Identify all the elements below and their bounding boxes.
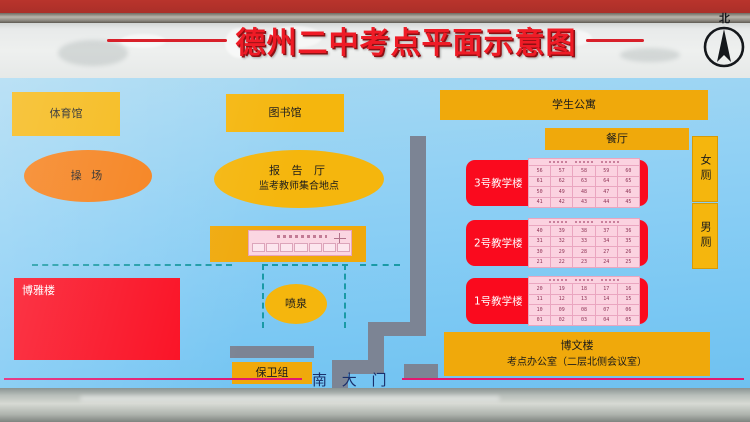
room-cell: 19	[551, 284, 573, 294]
room-cell: 37	[596, 226, 618, 236]
room-cell: 22	[551, 258, 573, 268]
compass-rose: 北	[701, 12, 747, 70]
campus-map-panel: 体育馆 操 场 博雅楼 图书馆 报 告 厅 监考教师集合地点 喷泉 保卫组	[0, 78, 750, 388]
room-cell: 35	[618, 237, 639, 247]
teaching-1-label: 1号教学楼	[474, 294, 523, 309]
room-row: 10 09 08 07 06	[529, 304, 639, 315]
room-cell: 47	[596, 187, 618, 197]
room-cell: 39	[551, 226, 573, 236]
room-cell: 65	[618, 177, 639, 187]
room-cell: 09	[551, 305, 573, 315]
area-playground[interactable]: 操 场	[24, 150, 152, 202]
room-cell: 63	[573, 177, 595, 187]
teaching-3-room-grid: 56 57 58 59 60 61 62 63 64 65 50 49 48	[528, 158, 640, 208]
room-cell: 62	[551, 177, 573, 187]
lecture-hall-name: 报 告 厅	[269, 164, 329, 178]
gate-rule-left	[4, 378, 302, 380]
room-cell: 58	[573, 166, 595, 176]
building-gymnasium[interactable]: 体育馆	[12, 92, 120, 136]
room-cell: 42	[551, 198, 573, 208]
room-cell: 49	[551, 187, 573, 197]
room-cell: 29	[551, 247, 573, 257]
title-bar: 德州二中考点平面示意图	[0, 17, 750, 63]
building-teaching-2[interactable]: 2号教学楼 40 39 38 37 36 31 32 33 34 35	[466, 220, 648, 266]
chart-cell	[309, 243, 322, 252]
room-cell: 07	[596, 305, 618, 315]
building-canteen[interactable]: 餐厅	[545, 128, 689, 150]
room-cell: 56	[529, 166, 551, 176]
signboard-photo: 德州二中考点平面示意图 北 体育馆 操 场 博雅楼 图书馆 报 告 厅 监考	[0, 0, 750, 422]
room-cell: 13	[573, 295, 595, 305]
room-cell: 43	[573, 198, 595, 208]
title-rule-right	[586, 39, 644, 42]
restroom-block: 女厕 男厕	[692, 136, 718, 270]
room-row: 20 19 18 17 16	[529, 283, 639, 294]
room-cell: 24	[596, 258, 618, 268]
room-row: 61 62 63 64 65	[529, 176, 639, 187]
room-row: 56 57 58 59 60	[529, 165, 639, 176]
chart-cell	[252, 243, 265, 252]
teaching-1-room-grid: 20 19 18 17 16 11 12 13 14 15 10 09 08	[528, 276, 640, 326]
room-cell: 16	[618, 284, 639, 294]
room-cell: 50	[529, 187, 551, 197]
room-cell: 57	[551, 166, 573, 176]
building-student-dormitory[interactable]: 学生公寓	[440, 90, 708, 120]
room-cell: 46	[618, 187, 639, 197]
room-cell: 01	[529, 316, 551, 326]
room-cell: 14	[596, 295, 618, 305]
south-gate-row: 南 大 门	[0, 370, 750, 388]
room-cell: 21	[529, 258, 551, 268]
chart-cell	[323, 243, 336, 252]
teaching-2-room-grid: 40 39 38 37 36 31 32 33 34 35 30 29 28	[528, 218, 640, 268]
chart-cell	[266, 243, 279, 252]
room-cell: 30	[529, 247, 551, 257]
center-plaza-chart	[248, 230, 352, 256]
room-cell: 38	[573, 226, 595, 236]
building-boya[interactable]: 博雅楼	[14, 278, 180, 360]
room-cell: 04	[596, 316, 618, 326]
bottom-frame-glint	[80, 396, 500, 401]
restroom-male-label: 男厕	[697, 221, 713, 251]
room-cell: 28	[573, 247, 595, 257]
area-fountain[interactable]: 喷泉	[265, 284, 327, 324]
title-rule-left	[107, 39, 227, 42]
room-cell: 23	[573, 258, 595, 268]
room-cell: 08	[573, 305, 595, 315]
gate-rule-right	[402, 378, 744, 380]
room-cell: 33	[573, 237, 595, 247]
room-cell: 11	[529, 295, 551, 305]
restroom-female[interactable]: 女厕	[692, 136, 718, 202]
room-cell: 17	[596, 284, 618, 294]
lecture-hall-note: 监考教师集合地点	[259, 181, 339, 194]
path-segment-vertical	[410, 136, 426, 336]
room-cell: 20	[529, 284, 551, 294]
room-row: 30 29 28 27 26	[529, 246, 639, 257]
teaching-2-label: 2号教学楼	[474, 236, 523, 251]
restroom-female-label: 女厕	[697, 154, 713, 184]
dashed-line-top-center	[262, 264, 348, 266]
room-cell: 59	[596, 166, 618, 176]
room-cell: 48	[573, 187, 595, 197]
room-cell: 45	[618, 198, 639, 208]
dashed-line-top-right	[360, 264, 400, 266]
page-title: 德州二中考点平面示意图	[236, 18, 577, 62]
south-gate-label: 南 大 门	[302, 369, 402, 389]
room-cell: 40	[529, 226, 551, 236]
room-cell: 32	[551, 237, 573, 247]
chart-cell	[337, 243, 350, 252]
room-cell: 12	[551, 295, 573, 305]
dashed-line-right	[344, 264, 346, 328]
room-cell: 61	[529, 177, 551, 187]
room-cell: 26	[618, 247, 639, 257]
room-cell: 44	[596, 198, 618, 208]
room-cell: 15	[618, 295, 639, 305]
building-teaching-1[interactable]: 1号教学楼 20 19 18 17 16 11 12 13 14 15	[466, 278, 648, 324]
room-cell: 31	[529, 237, 551, 247]
room-cell: 27	[596, 247, 618, 257]
room-cell: 03	[573, 316, 595, 326]
room-cell: 02	[551, 316, 573, 326]
teaching-3-label: 3号教学楼	[474, 176, 523, 191]
building-teaching-3[interactable]: 3号教学楼 56 57 58 59 60 61 62 63 64 65	[466, 160, 648, 206]
room-cell: 36	[618, 226, 639, 236]
bowen-name: 博文楼	[561, 339, 594, 353]
room-row: 50 49 48 47 46	[529, 186, 639, 197]
guard-post-shadow	[230, 346, 314, 358]
room-row: 01 02 03 04 05	[529, 315, 639, 326]
room-cell: 60	[618, 166, 639, 176]
area-lecture-hall[interactable]: 报 告 厅 监考教师集合地点	[214, 150, 384, 208]
chart-cell	[280, 243, 293, 252]
room-cell: 10	[529, 305, 551, 315]
room-row: 21 22 23 24 25	[529, 257, 639, 268]
room-cell: 64	[596, 177, 618, 187]
room-cell: 18	[573, 284, 595, 294]
room-row: 31 32 33 34 35	[529, 236, 639, 247]
room-row: 40 39 38 37 36	[529, 225, 639, 236]
room-cell: 25	[618, 258, 639, 268]
dashed-line-top-left	[32, 264, 232, 266]
restroom-male[interactable]: 男厕	[692, 203, 718, 269]
room-row: 41 42 43 44 45	[529, 197, 639, 208]
chart-cell	[294, 243, 307, 252]
building-library[interactable]: 图书馆	[226, 94, 344, 132]
room-cell: 05	[618, 316, 639, 326]
dashed-line-left	[262, 264, 264, 328]
bowen-note: 考点办公室（二层北侧会议室）	[507, 357, 647, 370]
compass-north-label: 北	[719, 10, 730, 26]
room-cell: 34	[596, 237, 618, 247]
room-row: 11 12 13 14 15	[529, 294, 639, 305]
chart-cell-row	[252, 243, 350, 252]
sign-bottom-frame	[0, 388, 750, 422]
room-cell: 06	[618, 305, 639, 315]
chart-caption-line	[277, 235, 327, 238]
room-cell: 41	[529, 198, 551, 208]
